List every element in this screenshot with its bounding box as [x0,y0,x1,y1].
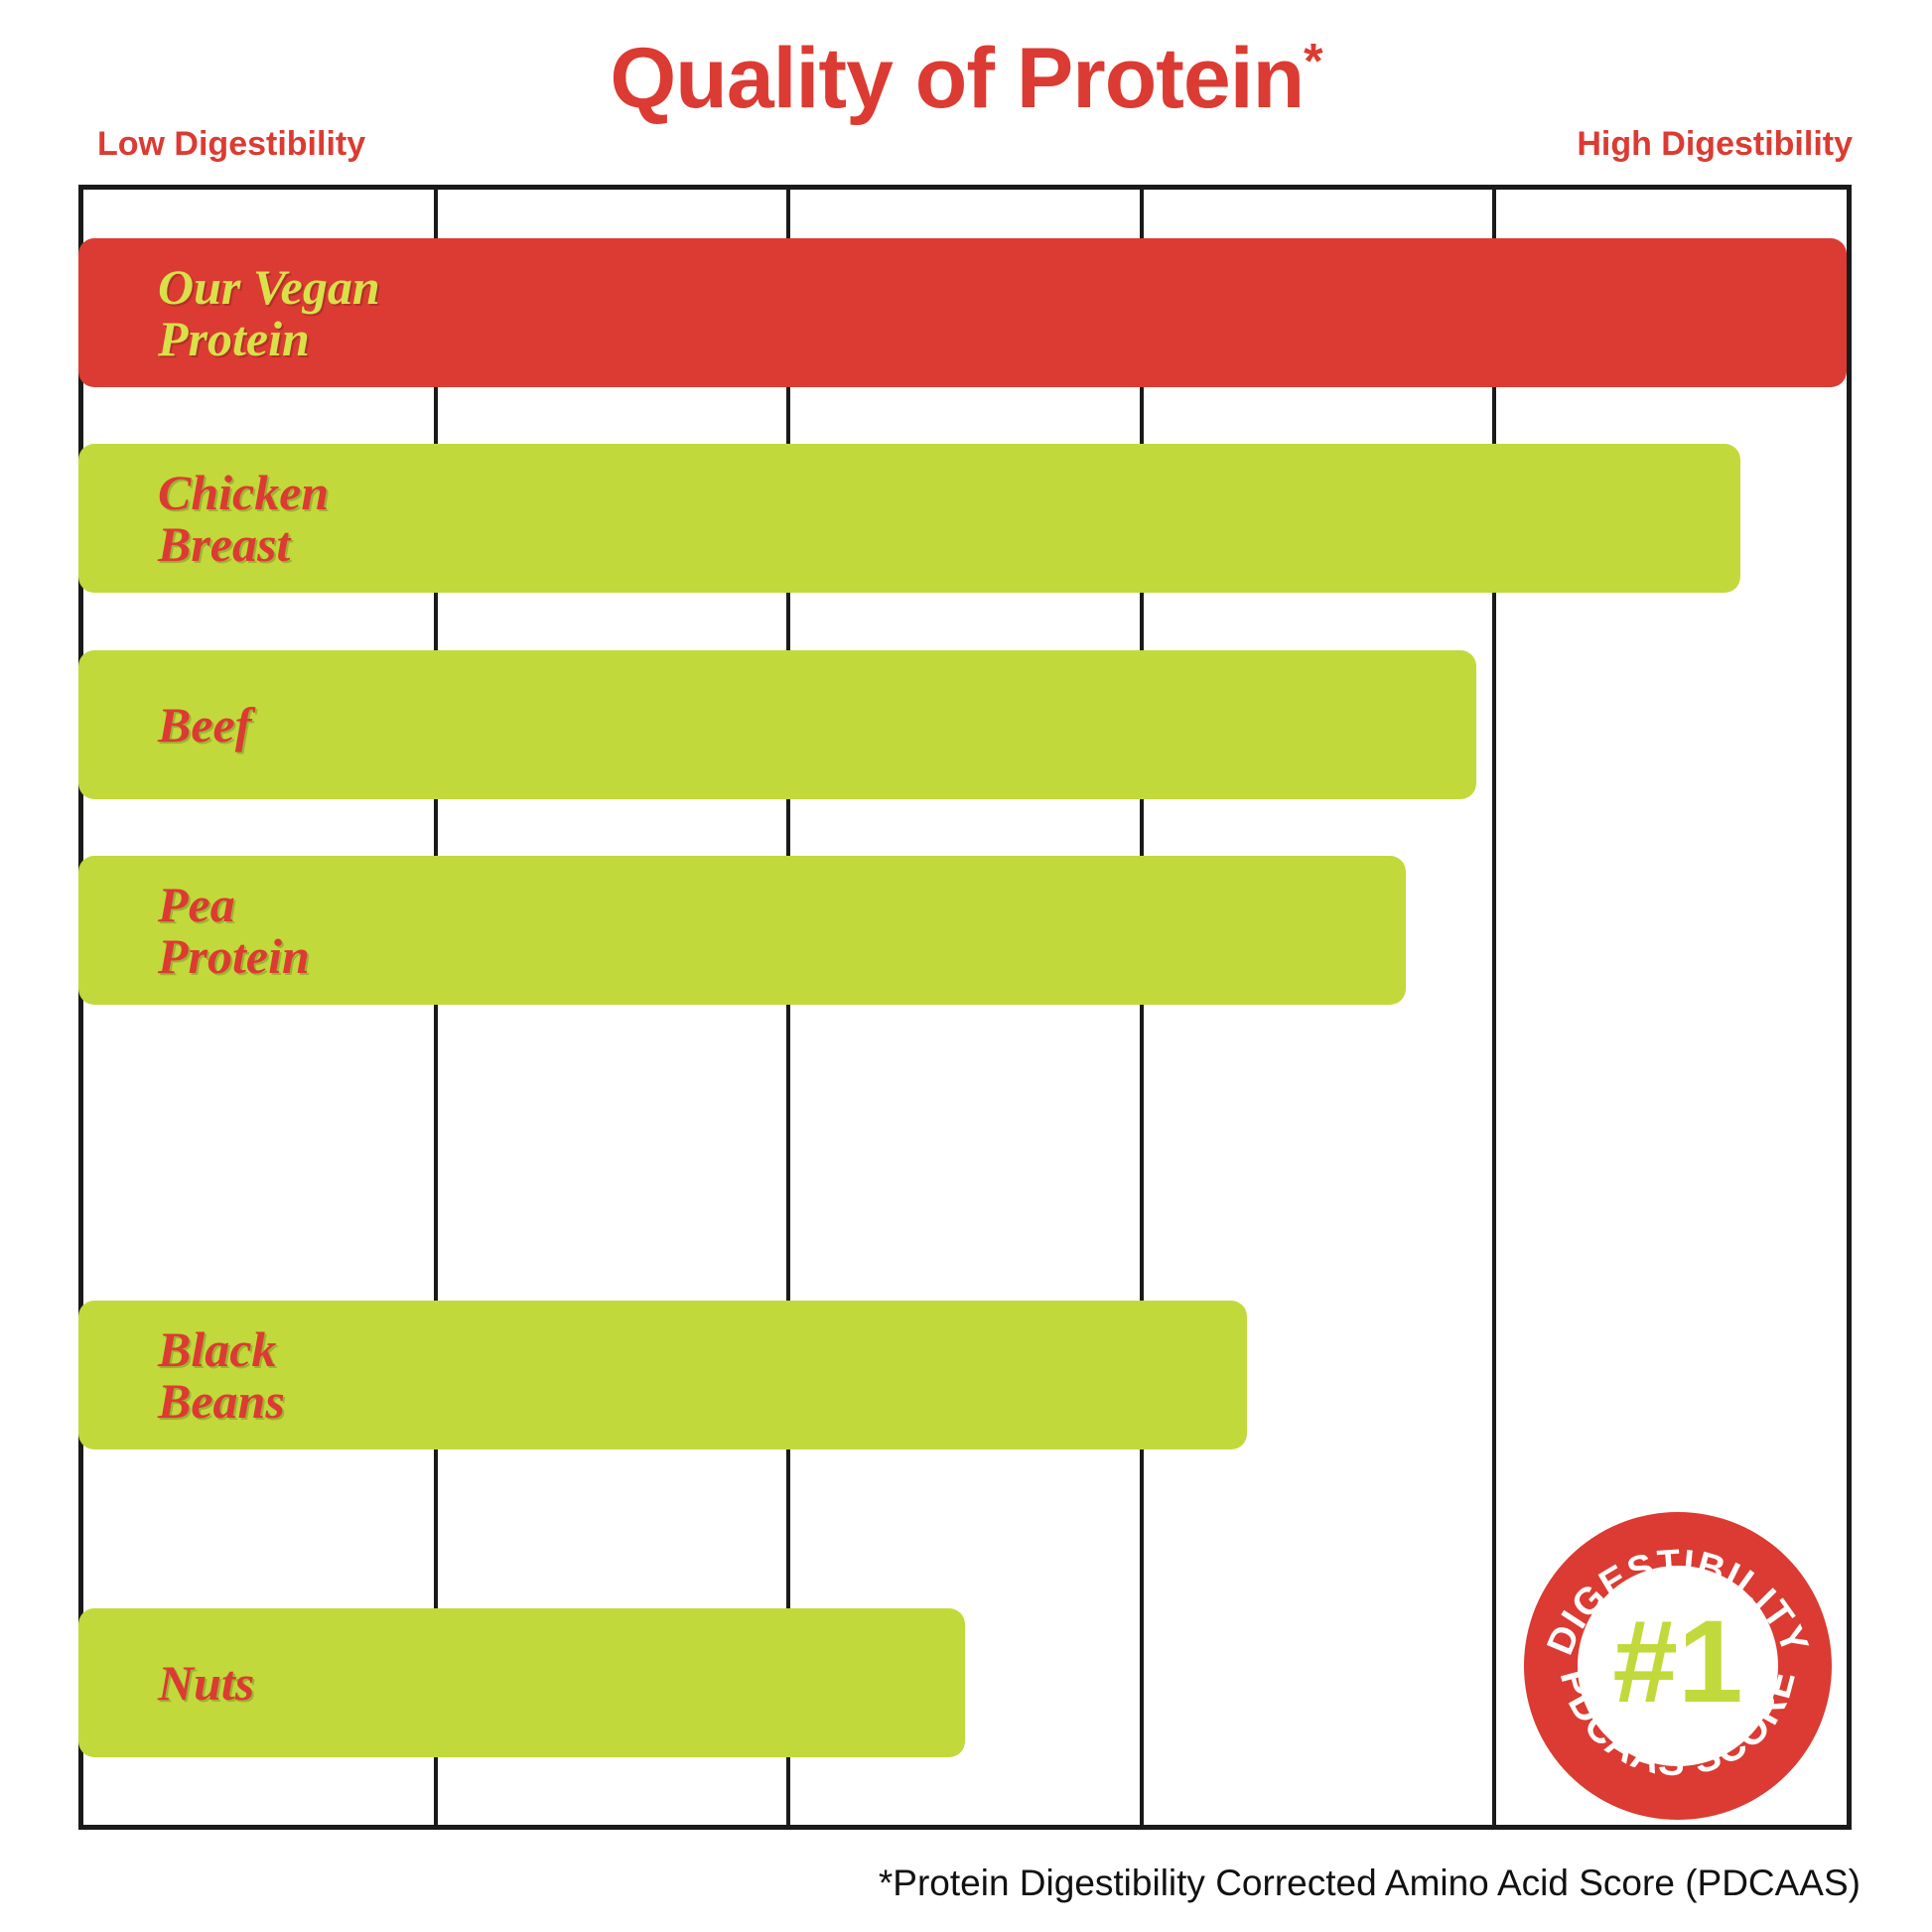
pdcaas-score-badge: DIGESTIBILITY PDCAAS SCORE #1 [1520,1508,1836,1824]
bar-label: Chicken Breast [78,467,329,570]
gridline [434,190,438,1825]
bar-black-beans: Black Beans [78,1301,1247,1449]
axis-label-high-digestibility: High Digestibility [1577,127,1853,161]
bar-our-vegan-protein: Our Vegan Protein [78,238,1847,387]
page-title-text: Quality of Protein [610,31,1304,126]
page-title: Quality of Protein* [0,36,1932,121]
axis-label-low-digestibility: Low Digestibility [97,127,365,161]
infographic-canvas: Quality of Protein* Low Digestibility Hi… [0,0,1932,1932]
gridline [1140,190,1144,1825]
footnote: *Protein Digestibility Corrected Amino A… [879,1864,1861,1901]
bar-nuts: Nuts [78,1608,965,1757]
bar-pea-protein: Pea Protein [78,856,1406,1005]
bar-beef: Beef [78,650,1476,799]
bar-label: Nuts [78,1657,254,1709]
bar-label: Our Vegan Protein [78,261,380,364]
title-asterisk: * [1304,33,1321,88]
gridline [786,190,790,1825]
gridline [1492,190,1496,1825]
badge-center-text: #1 [1612,1596,1742,1727]
bar-label: Pea Protein [78,879,310,982]
bar-label: Beef [78,699,251,751]
bar-chicken-breast: Chicken Breast [78,444,1740,593]
bar-label: Black Beans [78,1323,285,1427]
